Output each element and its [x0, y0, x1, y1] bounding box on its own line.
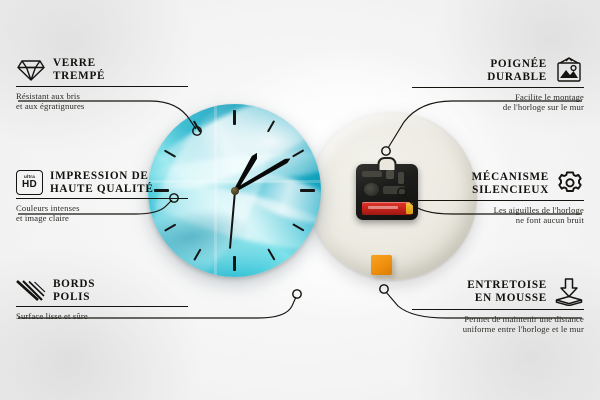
feature-title: POIGNÉE DURABLE: [487, 58, 547, 83]
feature-header: MÉCANISME SILENCIEUX: [412, 170, 584, 197]
feature-description: Couleurs intenses et image claire: [16, 203, 188, 223]
foam-spacer: [371, 255, 392, 275]
aa-battery: [362, 202, 412, 215]
feature-entretoise-en-mousse[interactable]: ENTRETOISE EN MOUSSE Permet de maintenir…: [412, 278, 584, 334]
clock-tick: [233, 256, 236, 271]
clock-tick: [300, 189, 315, 192]
feature-bords-polis[interactable]: BORDS POLIS Surface lisse et sûre: [16, 278, 188, 321]
mechanism-detail: [386, 170, 394, 179]
clock-tick: [193, 248, 202, 260]
feature-description: Les aiguilles de l'horloge ne font aucun…: [412, 205, 584, 225]
feature-header: ultra HD IMPRESSION DE HAUTE QUALITÉ: [16, 170, 188, 195]
clock-tick: [267, 248, 276, 260]
battery-stripe: [368, 206, 398, 209]
mechanism-detail: [398, 172, 404, 184]
clock-tick: [292, 149, 304, 158]
callout-dot-bords: [293, 290, 301, 298]
feature-divider: [412, 87, 584, 88]
feature-divider: [16, 86, 188, 87]
feature-description: Résistant aux bris et aux égratignures: [16, 91, 188, 111]
feature-title: IMPRESSION DE HAUTE QUALITÉ: [50, 170, 154, 195]
feature-divider: [16, 306, 188, 307]
diamond-icon: [16, 57, 46, 83]
feature-header: VERRE TREMPÉ: [16, 57, 188, 83]
feature-title: ENTRETOISE EN MOUSSE: [467, 279, 547, 304]
clock-tick: [267, 120, 276, 132]
gear-icon: [556, 170, 584, 197]
feature-header: POIGNÉE DURABLE: [412, 57, 584, 84]
infographic-canvas: VERRE TREMPÉ Résistant aux bris et aux é…: [0, 0, 600, 400]
feature-description: Surface lisse et sûre: [16, 311, 188, 321]
clock-tick: [164, 223, 176, 232]
feature-header: ENTRETOISE EN MOUSSE: [412, 278, 584, 306]
clock-tick: [193, 120, 202, 132]
feature-divider: [412, 200, 584, 201]
clock-tick: [164, 149, 176, 158]
clock-mechanism: [356, 164, 418, 220]
ultra-hd-icon: ultra HD: [16, 170, 43, 195]
feature-description: Facilite le montage de l'horloge sur le …: [412, 92, 584, 112]
foam-spacer-arrow-icon: [554, 278, 584, 306]
feature-mecanisme-silencieux[interactable]: MÉCANISME SILENCIEUX Les aiguilles de l'…: [412, 170, 584, 225]
feature-header: BORDS POLIS: [16, 278, 188, 303]
clock-hanger: [378, 157, 397, 170]
clock-tick: [233, 110, 236, 125]
feature-title: VERRE TREMPÉ: [53, 57, 105, 82]
feature-title: MÉCANISME SILENCIEUX: [472, 171, 549, 196]
mechanism-detail: [383, 186, 405, 194]
clock-tick: [292, 223, 304, 232]
feature-title: BORDS POLIS: [53, 278, 95, 303]
feature-poignee-durable[interactable]: POIGNÉE DURABLE Facilite le montage de l…: [412, 57, 584, 112]
feature-divider: [16, 198, 188, 199]
feature-verre-trempe[interactable]: VERRE TREMPÉ Résistant aux bris et aux é…: [16, 57, 188, 111]
picture-frame-hanger-icon: [554, 57, 584, 84]
feature-divider: [412, 309, 584, 310]
feature-impression-haute-qualite[interactable]: ultra HD IMPRESSION DE HAUTE QUALITÉ Cou…: [16, 170, 188, 223]
mechanism-detail: [362, 171, 382, 177]
callout-dot-entretoise: [380, 285, 388, 293]
clock-center-cap: [231, 187, 239, 195]
bevelled-edges-icon: [16, 279, 46, 303]
feature-description: Permet de maintenir une distance uniform…: [412, 314, 584, 334]
mechanism-dial: [364, 183, 379, 196]
